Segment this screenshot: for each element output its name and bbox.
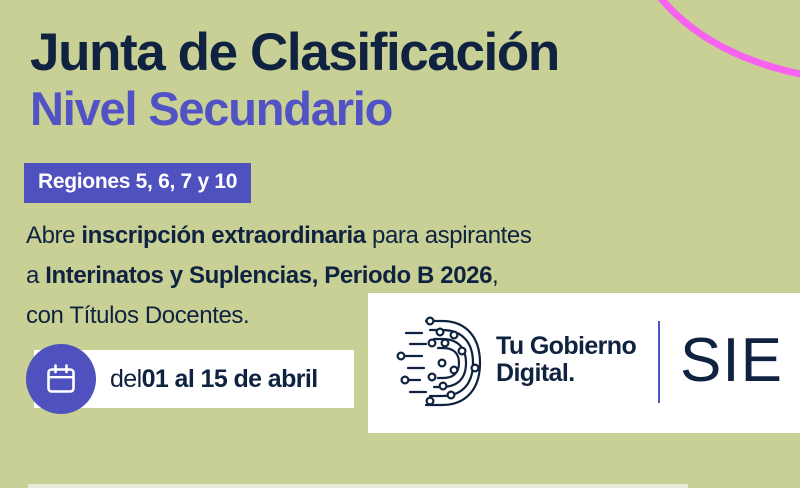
logo-sie-text: SIE	[680, 323, 783, 399]
regions-badge: Regiones 5, 6, 7 y 10	[24, 163, 251, 203]
page-title: Junta de Clasificación	[30, 26, 730, 80]
headline-block: Junta de Clasificación Nivel Secundario	[30, 26, 730, 134]
logo-divider	[658, 321, 660, 403]
body-line-1-bold: inscripción extraordinaria	[81, 222, 365, 249]
body-line-2-post: ,	[492, 262, 498, 289]
date-text-bold: 01 al 15 de abril	[142, 365, 318, 394]
logo-wordmark-line2: Digital.	[496, 360, 636, 387]
body-line-1-pre: Abre	[26, 222, 81, 249]
circuit-d-icon	[396, 313, 488, 413]
body-line-2-pre: a	[26, 262, 45, 289]
page-subtitle: Nivel Secundario	[30, 84, 730, 134]
body-line-2-bold: Interinatos y Suplencias, Periodo B 2026	[45, 262, 492, 289]
poster-canvas: Junta de Clasificación Nivel Secundario …	[0, 0, 800, 488]
body-line-1-post: para aspirantes	[366, 222, 532, 249]
calendar-icon	[44, 362, 78, 396]
bottom-edge-strip	[28, 484, 688, 488]
logo-panel: Tu Gobierno Digital. SIE	[368, 293, 800, 433]
body-line-2: a Interinatos y Suplencias, Periodo B 20…	[26, 256, 666, 296]
logo-wordmark-line1: Tu Gobierno	[496, 333, 636, 360]
date-range-text: del 01 al 15 de abril	[110, 350, 318, 408]
body-line-1: Abre inscripción extraordinaria para asp…	[26, 216, 666, 256]
date-text-pre: del	[110, 365, 142, 394]
logo-wordmark: Tu Gobierno Digital.	[496, 333, 636, 387]
date-icon-circle	[26, 344, 96, 414]
